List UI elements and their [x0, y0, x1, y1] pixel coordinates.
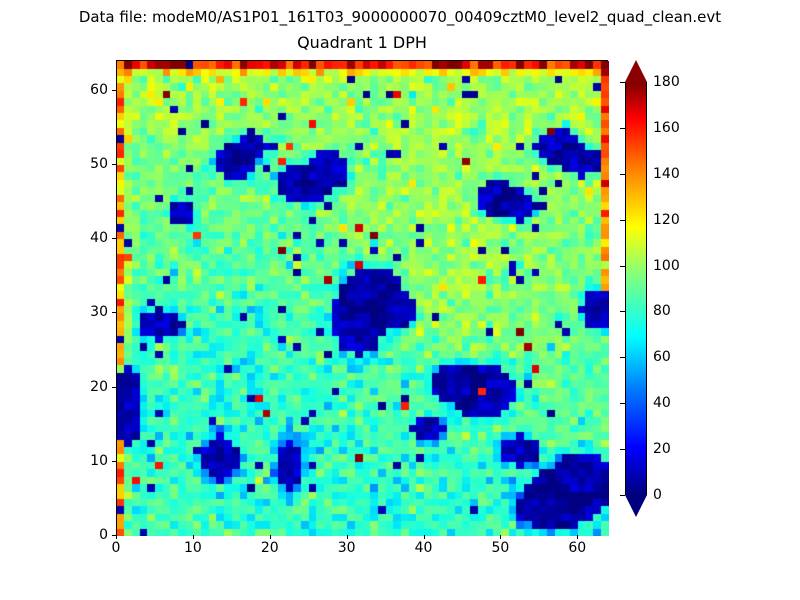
y-tick-label: 0 [70, 527, 108, 543]
x-tick-mark [347, 535, 348, 539]
y-tick-mark [112, 535, 116, 536]
colorbar [625, 60, 647, 517]
colorbar-tick-label: 80 [653, 303, 671, 319]
colorbar-tick-mark [620, 357, 625, 358]
x-tick-label: 50 [491, 540, 509, 556]
colorbar-tick-mark [620, 311, 625, 312]
y-tick-mark [112, 90, 116, 91]
colorbar-tick-label: 140 [653, 166, 680, 182]
y-tick-mark [112, 238, 116, 239]
colorbar-tick-label: 20 [653, 441, 671, 457]
x-tick-label: 40 [415, 540, 433, 556]
x-tick-label: 60 [568, 540, 586, 556]
x-tick-label: 10 [184, 540, 202, 556]
y-tick-label: 50 [70, 156, 108, 172]
colorbar-tick-label: 100 [653, 258, 680, 274]
colorbar-tick-mark [620, 266, 625, 267]
colorbar-tick-label: 60 [653, 349, 671, 365]
heatmap-plot-area [116, 60, 608, 535]
y-tick-label: 20 [70, 379, 108, 395]
axes-title: Quadrant 1 DPH [116, 33, 608, 52]
colorbar-tick-label: 180 [653, 74, 680, 90]
x-tick-mark [424, 535, 425, 539]
y-tick-mark [112, 387, 116, 388]
colorbar-tick-mark [620, 403, 625, 404]
colorbar-tick-mark [620, 495, 625, 496]
y-tick-mark [112, 164, 116, 165]
x-tick-mark [500, 535, 501, 539]
colorbar-tick-mark [620, 220, 625, 221]
x-tick-mark [270, 535, 271, 539]
y-tick-label: 40 [70, 230, 108, 246]
colorbar-gradient [625, 82, 647, 495]
colorbar-tick-mark [620, 128, 625, 129]
colorbar-tick-mark [620, 174, 625, 175]
y-tick-label: 60 [70, 82, 108, 98]
x-tick-mark [116, 535, 117, 539]
colorbar-tick-label: 160 [653, 120, 680, 136]
x-tick-mark [193, 535, 194, 539]
detector-heatmap [117, 61, 609, 536]
colorbar-over-arrow [625, 60, 647, 82]
colorbar-tick-mark [620, 82, 625, 83]
y-tick-mark [112, 461, 116, 462]
figure-suptitle: Data file: modeM0/AS1P01_161T03_90000000… [0, 8, 800, 26]
y-tick-label: 30 [70, 304, 108, 320]
colorbar-under-arrow [625, 495, 647, 517]
y-tick-label: 10 [70, 453, 108, 469]
x-tick-label: 30 [338, 540, 356, 556]
x-tick-label: 0 [112, 540, 121, 556]
colorbar-tick-label: 120 [653, 212, 680, 228]
x-tick-mark [577, 535, 578, 539]
colorbar-tick-label: 40 [653, 395, 671, 411]
colorbar-tick-label: 0 [653, 487, 662, 503]
colorbar-tick-mark [620, 449, 625, 450]
y-tick-mark [112, 312, 116, 313]
x-tick-label: 20 [261, 540, 279, 556]
